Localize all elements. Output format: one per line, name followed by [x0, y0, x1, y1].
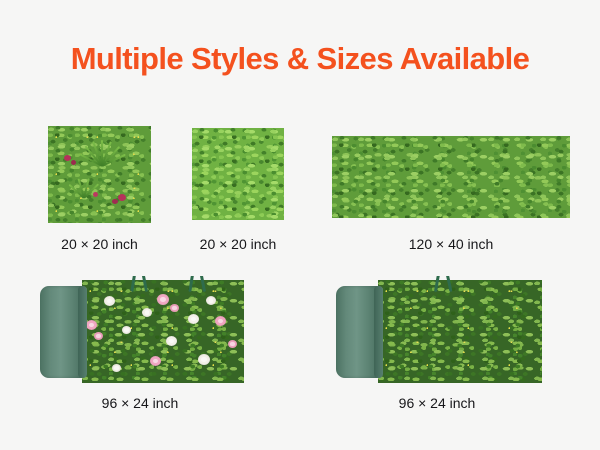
- size-label-boxwood-square-panel: 20 × 20 inch: [192, 236, 284, 252]
- flower-pink: [150, 356, 161, 366]
- product-image-boxwood-square-panel: [192, 128, 284, 220]
- unrolled-mat: [82, 280, 244, 383]
- flower-white: [198, 354, 210, 365]
- foliage-texture: [332, 136, 570, 218]
- roll-edge: [374, 286, 383, 378]
- flower-pink: [170, 304, 179, 312]
- size-label-rolled-flower-fence: 96 × 24 inch: [36, 395, 244, 411]
- product-card-rolled-green-fence[interactable]: 96 × 24 inch: [332, 276, 564, 383]
- flower-white: [112, 364, 121, 372]
- product-card-rolled-flower-fence[interactable]: 96 × 24 inch: [36, 276, 266, 383]
- size-label-mixed-square-panel: 20 × 20 inch: [48, 236, 151, 252]
- product-image-rolled-green-fence: [332, 276, 542, 383]
- flower-magenta: [118, 194, 126, 201]
- rolled-backing: [336, 286, 382, 378]
- frond-cluster-secondary-icon: [82, 178, 84, 198]
- zip-tie-loop-icon: [190, 276, 206, 292]
- rolled-backing: [40, 286, 86, 378]
- flower-pink: [86, 320, 97, 330]
- page-title: Multiple Styles & Sizes Available: [0, 42, 600, 76]
- flower-white: [206, 296, 216, 305]
- foliage-texture: [192, 128, 284, 220]
- roll-edge: [78, 286, 87, 378]
- flower-white: [104, 296, 115, 306]
- flower-pink: [94, 332, 103, 340]
- size-label-wide-hedge-panel: 120 × 40 inch: [332, 236, 570, 252]
- flower-pink: [157, 294, 169, 305]
- unrolled-mat: [378, 280, 542, 383]
- flower-magenta: [112, 199, 118, 204]
- product-image-rolled-flower-fence: [36, 276, 244, 383]
- foliage-texture: [378, 280, 542, 383]
- product-size-showcase: Multiple Styles & Sizes Available: [0, 0, 600, 450]
- product-image-mixed-square-panel: [48, 126, 151, 223]
- flower-magenta: [71, 160, 76, 165]
- product-image-wide-hedge-panel: [332, 136, 570, 218]
- zip-tie-loop-icon: [132, 276, 148, 292]
- size-label-rolled-green-fence: 96 × 24 inch: [332, 395, 542, 411]
- flower-white: [188, 314, 199, 324]
- product-card-boxwood-square-panel[interactable]: 20 × 20 inch: [192, 128, 297, 220]
- flower-magenta: [64, 155, 71, 161]
- flower-white: [122, 326, 131, 334]
- product-card-wide-hedge-panel[interactable]: 120 × 40 inch: [332, 136, 570, 218]
- flower-pink: [228, 340, 237, 348]
- product-card-mixed-square-panel[interactable]: 20 × 20 inch: [48, 126, 158, 223]
- zip-tie-loop-icon: [436, 276, 452, 292]
- flower-pink: [215, 316, 226, 326]
- flower-magenta: [93, 192, 98, 197]
- flower-white: [142, 308, 152, 317]
- flower-white: [166, 336, 177, 346]
- frond-cluster-icon: [100, 140, 102, 166]
